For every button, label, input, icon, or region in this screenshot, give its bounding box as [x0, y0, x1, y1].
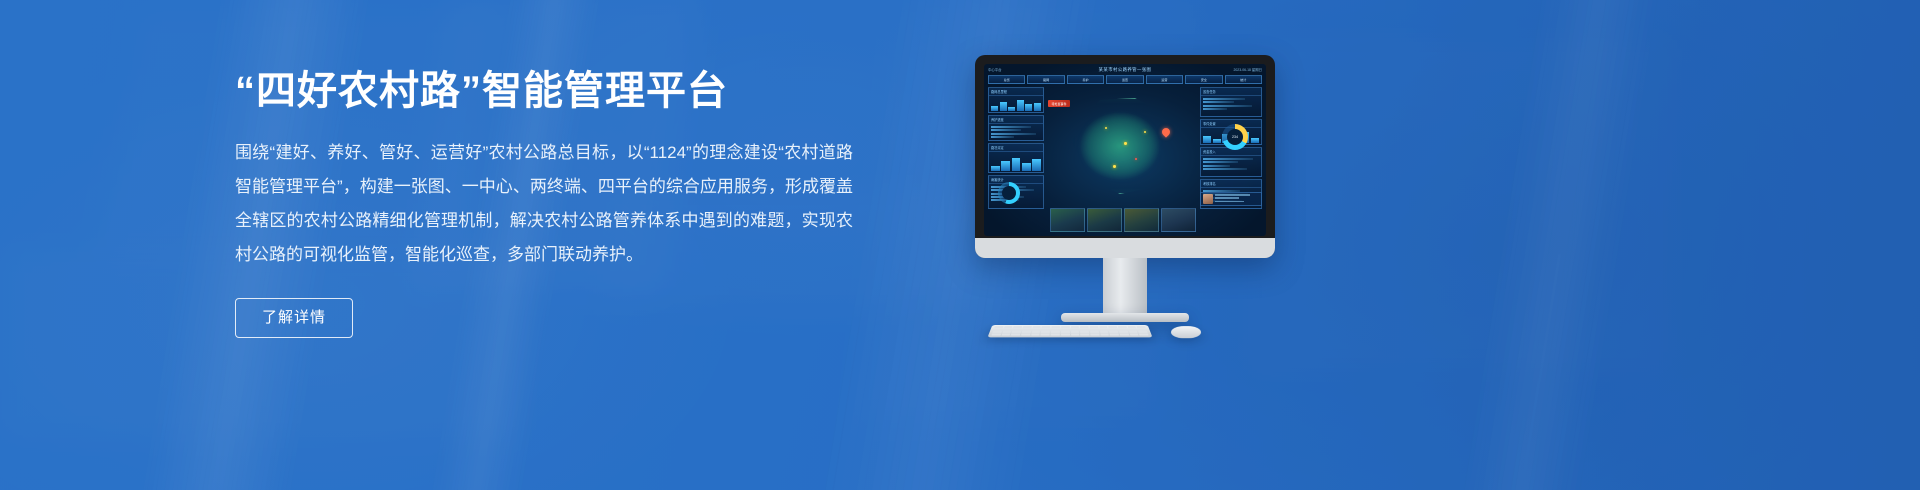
nav-item[interactable]: 安全 [1185, 75, 1222, 84]
dashboard-screen: 中心平台 某某市村公路养管一张图 2023-06-18 星期日 总览 路网 养护… [984, 64, 1266, 236]
operator-info-lines [1215, 194, 1259, 204]
dashboard-top-nav[interactable]: 总览 路网 养护 巡查 运营 安全 统计 [988, 75, 1262, 84]
keyboard [987, 325, 1152, 337]
panel-title: 路网总里程 [989, 88, 1043, 96]
page-title: “四好农村路”智能管理平台 [235, 68, 855, 114]
donut-chart: 234 [1222, 124, 1248, 150]
nav-item[interactable]: 统计 [1225, 75, 1262, 84]
monitor-body: 中心平台 某某市村公路养管一张图 2023-06-18 星期日 总览 路网 养护… [975, 55, 1275, 258]
operator-panel [1200, 192, 1262, 206]
cta-wrapper: 了解详情 [235, 298, 855, 338]
dashboard-panel: 资金投入 [1200, 147, 1262, 177]
panel-title: 路况评定 [989, 144, 1043, 152]
dashboard-panel: 路网总里程 [988, 87, 1044, 113]
nav-item[interactable]: 运营 [1146, 75, 1183, 84]
panel-title: 养护进度 [989, 116, 1043, 124]
alert-badge[interactable]: 待处置事件 [1048, 100, 1070, 107]
nav-item[interactable]: 路网 [1027, 75, 1064, 84]
gis-map[interactable] [1068, 98, 1176, 194]
video-feed-tile[interactable] [1161, 208, 1196, 232]
video-feed-tile[interactable] [1050, 208, 1085, 232]
panel-progress-rows [1201, 156, 1261, 173]
learn-more-button[interactable]: 了解详情 [235, 298, 353, 338]
video-feed-tile[interactable] [1087, 208, 1122, 232]
nav-item[interactable]: 养护 [1067, 75, 1104, 84]
banner-description: 围绕“建好、养好、管好、运营好”农村公路总目标，以“1124”的理念建设“农村道… [235, 136, 853, 272]
panel-title: 病害统计 [989, 176, 1043, 184]
panel-progress-rows [989, 124, 1043, 141]
dashboard-panel: 养护进度 [988, 115, 1044, 141]
map-marker[interactable] [1144, 131, 1146, 133]
nav-item[interactable]: 总览 [988, 75, 1025, 84]
map-marker[interactable] [1124, 142, 1126, 144]
monitor-chin [975, 238, 1275, 258]
panel-progress-rows [1201, 96, 1261, 113]
dashboard-header-right: 2023-06-18 星期日 [1234, 67, 1262, 72]
dashboard-panel: 巡查任务 [1200, 87, 1262, 117]
monitor-stand-base [1061, 313, 1189, 322]
map-region-shape [1068, 98, 1176, 194]
mouse [1171, 326, 1202, 338]
imac-mockup: 中心平台 某某市村公路养管一张图 2023-06-18 星期日 总览 路网 养护… [975, 55, 1295, 355]
donut-value: 234 [1222, 124, 1248, 150]
dashboard-panel: 路况评定 [988, 143, 1044, 173]
monitor-stand-neck [1103, 258, 1147, 316]
keyboard-keys [991, 326, 1149, 336]
panel-bar-chart [989, 152, 1043, 173]
map-marker[interactable] [1113, 165, 1115, 167]
video-feed-strip[interactable] [1050, 208, 1196, 232]
gauge-chart [998, 182, 1020, 204]
panel-bar-chart [989, 96, 1043, 113]
panel-title: 巡查任务 [1201, 88, 1261, 96]
panel-title: 考核排名 [1201, 180, 1261, 188]
dashboard-title: 某某市村公路养管一张图 [984, 67, 1266, 73]
hero-banner: “四好农村路”智能管理平台 围绕“建好、养好、管好、运营好”农村公路总目标，以“… [0, 0, 1920, 490]
avatar [1203, 194, 1213, 204]
nav-item[interactable]: 巡查 [1106, 75, 1143, 84]
banner-content: “四好农村路”智能管理平台 围绕“建好、养好、管好、运营好”农村公路总目标，以“… [235, 68, 855, 338]
video-feed-tile[interactable] [1124, 208, 1159, 232]
